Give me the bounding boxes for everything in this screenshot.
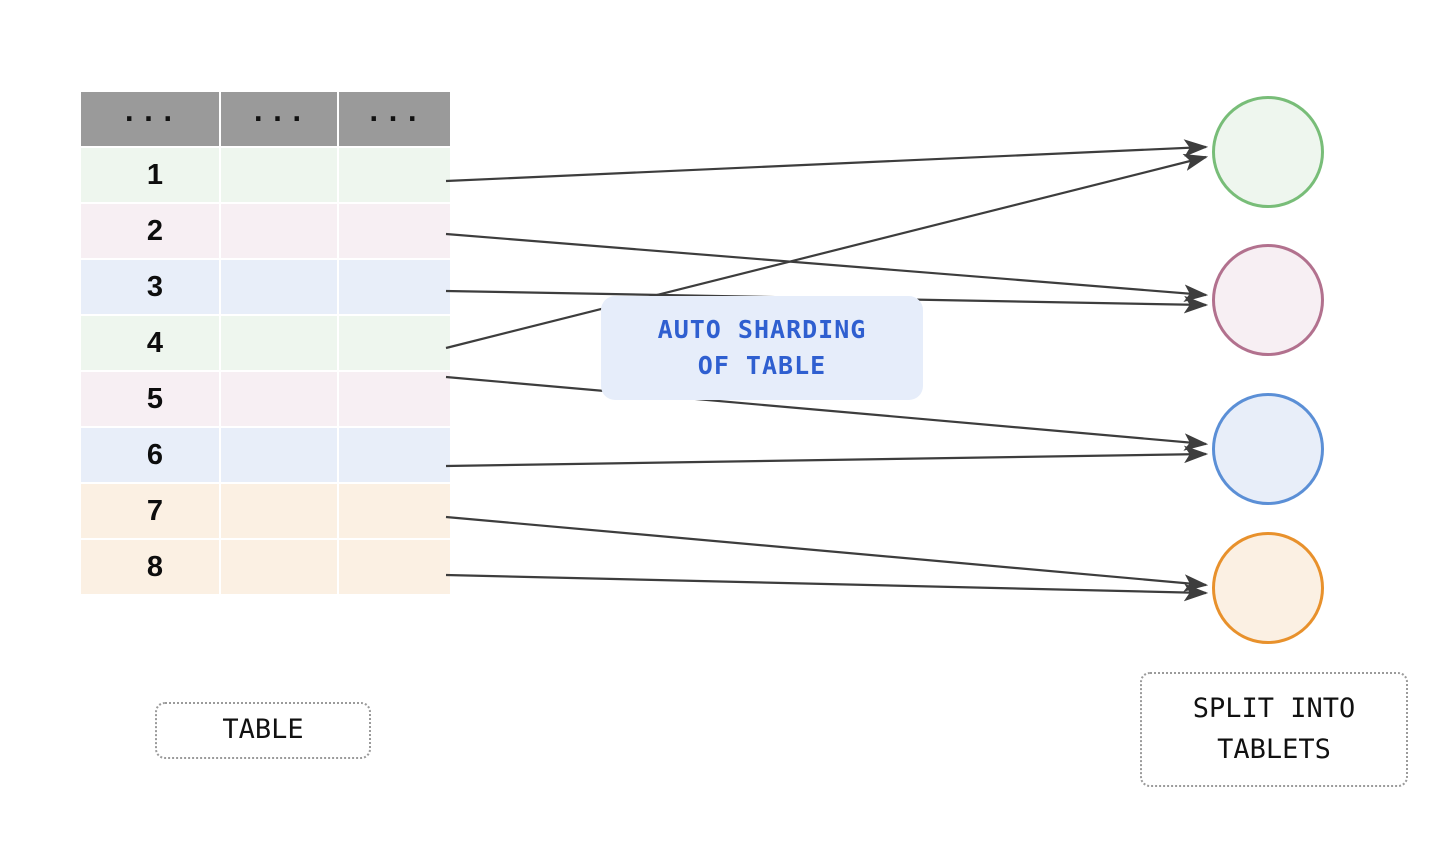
auto-sharding-label: AUTO SHARDING OF TABLE [601, 296, 923, 400]
connector-row-1-to-tablet-green [446, 147, 1206, 181]
connector-row-8-to-tablet-orange [446, 575, 1206, 593]
diagram-canvas: ... ... ... 12345678 AUTO SHARDING OF TA… [0, 0, 1444, 864]
connector-row-7-to-tablet-orange [446, 517, 1206, 585]
connector-row-2-to-tablet-pink [446, 234, 1206, 295]
sharding-label-line2: OF TABLE [698, 351, 826, 380]
connector-layer [0, 0, 1444, 864]
connector-row-6-to-tablet-blue [446, 454, 1206, 466]
sharding-label-line1: AUTO SHARDING [658, 315, 867, 344]
